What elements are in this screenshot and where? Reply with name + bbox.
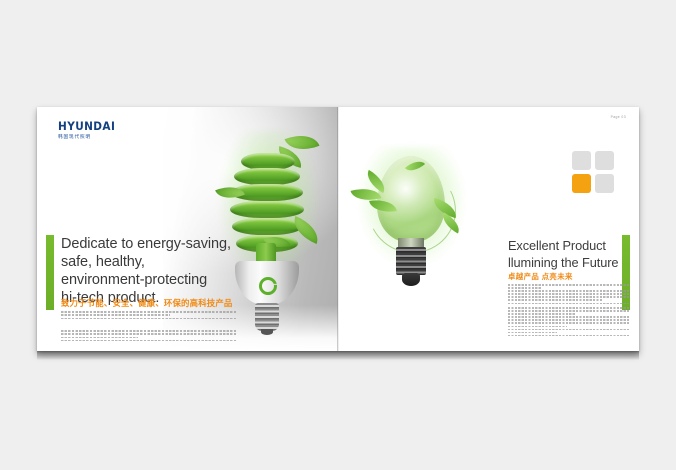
cfl-coil: [234, 168, 300, 185]
text-line: [508, 287, 542, 289]
cfl-coil: [230, 201, 304, 218]
cfl-bulb-alt-text: green-cfl-spiral-bulb-with-leaves: [215, 125, 216, 126]
incandescent-bulb-illustration: green-glowing-incandescent-bulb-with-vin…: [346, 147, 478, 297]
logo-wordmark: HYUNDAI: [58, 122, 124, 133]
left-page: HYUNDAI 韩国现代照明: [37, 107, 338, 351]
page-number-note: Page 03: [611, 115, 626, 119]
spread-drop-shadow: [37, 351, 639, 360]
text-line: [508, 290, 630, 292]
text-line: [61, 330, 236, 332]
text-line: [508, 299, 603, 301]
text-line: [508, 329, 630, 331]
bulb-contact-tip: [402, 273, 420, 286]
text-line: [508, 326, 567, 328]
text-line: [508, 316, 630, 318]
text-line: [508, 307, 630, 309]
right-subheadline-chinese: 卓越产品 点亮未来: [508, 271, 573, 282]
left-headline-line-3: environment-protecting: [61, 271, 256, 289]
text-line: [508, 284, 630, 286]
text-line: [508, 322, 630, 324]
cfl-coil: [232, 218, 302, 235]
swatch-top-left: [572, 151, 591, 170]
left-accent-bar: [46, 235, 54, 310]
brochure-canvas: HYUNDAI 韩国现代照明: [0, 0, 676, 470]
right-headline-line-1: Excellent Product: [508, 237, 633, 254]
brochure-spread: HYUNDAI 韩国现代照明: [37, 107, 639, 351]
swatch-bottom-left: [572, 174, 591, 193]
text-line: [508, 335, 630, 337]
left-body-chinese: 中文正文段落（微缩排版，不可辨识）: [61, 311, 236, 321]
text-line: [508, 332, 557, 334]
bulb-alt-text: green-glowing-incandescent-bulb-with-vin…: [346, 147, 347, 148]
hyundai-logo: HYUNDAI 韩国现代照明: [58, 122, 124, 139]
left-headline-line-2: safe, healthy,: [61, 253, 256, 271]
swatch-bottom-right: [595, 174, 614, 193]
text-line: [508, 310, 630, 312]
left-body-english: English body paragraph (micro-type, ille…: [61, 330, 236, 343]
left-headline-line-1: Dedicate to energy-saving,: [61, 235, 256, 253]
cfl-contact-tip: [261, 329, 273, 335]
spread-gutter: [337, 107, 339, 351]
text-line: [508, 319, 630, 321]
right-headline: Excellent Product llumining the Future: [508, 237, 633, 271]
left-subheadline-chinese: 致力于节能、安全、健康、环保的高科技产品: [61, 299, 261, 308]
swatch-top-right: [595, 151, 614, 170]
text-line: [61, 311, 236, 313]
logo-chinese-name: 韩国现代照明: [58, 135, 124, 140]
right-body-chinese: 中文正文段落（微缩排版，不可辨识）: [508, 284, 630, 306]
left-headline: Dedicate to energy-saving, safe, healthy…: [61, 235, 256, 307]
right-page: Page 03 green-glowing-incandescent-bulb-…: [338, 107, 639, 351]
text-line: [61, 318, 236, 320]
text-line: [508, 293, 630, 295]
right-headline-line-2: llumining the Future: [508, 254, 633, 271]
text-line: [61, 314, 170, 316]
text-line: [61, 333, 236, 335]
text-line: [508, 313, 575, 315]
text-line: [508, 303, 630, 305]
text-line: [508, 296, 630, 298]
text-line: [61, 337, 138, 339]
color-swatch-grid: [572, 151, 614, 193]
bulb-screw-thread: [396, 247, 426, 275]
right-body-english: English body paragraph (micro-type, ille…: [508, 307, 630, 338]
text-line: [61, 340, 236, 342]
